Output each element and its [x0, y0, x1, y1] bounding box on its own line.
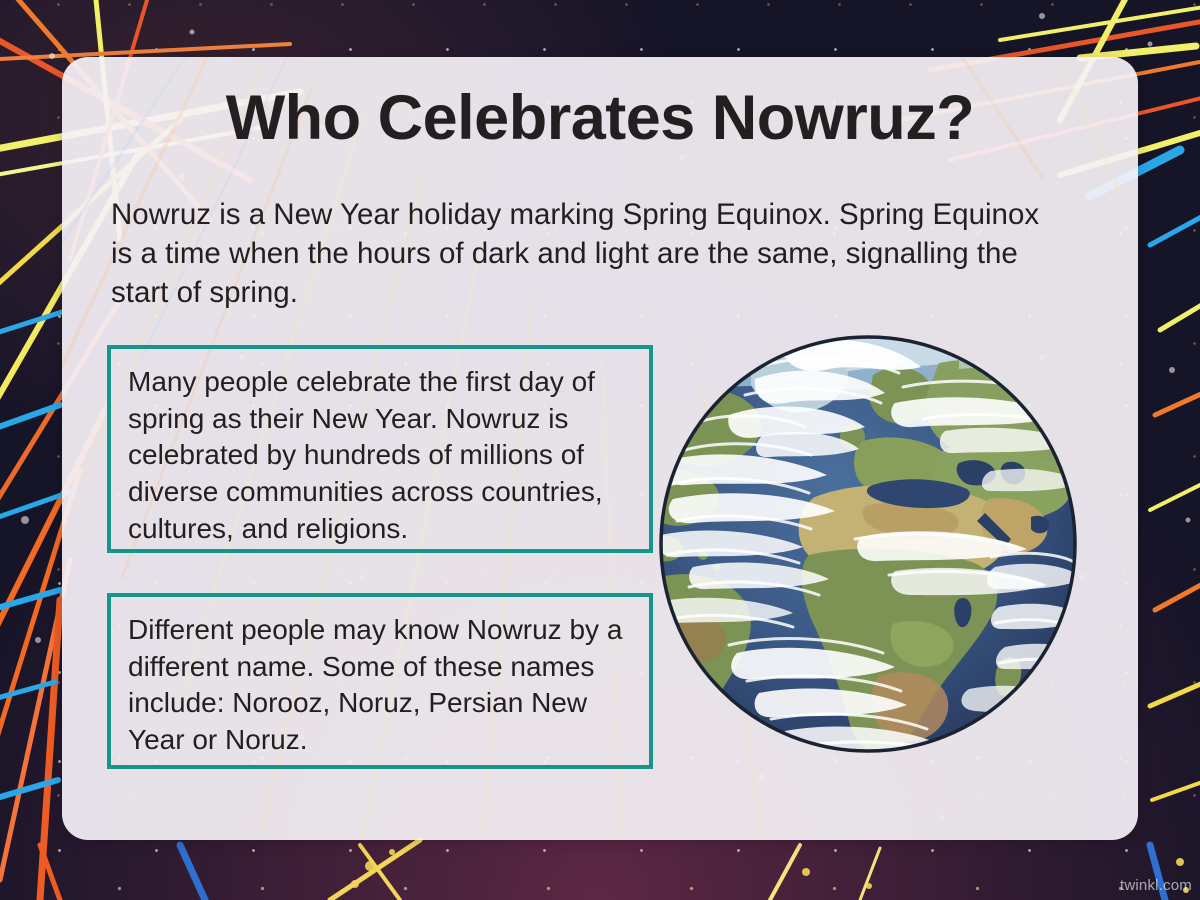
twinkl-watermark: twinkl.com: [1120, 877, 1192, 894]
page-title: Who Celebrates Nowruz?: [62, 85, 1138, 151]
fact-box-celebration: Many people celebrate the first day of s…: [107, 345, 653, 553]
content-card: Who Celebrates Nowruz? Nowruz is a New Y…: [62, 57, 1138, 840]
fact-box-celebration-text: Many people celebrate the first day of s…: [128, 366, 603, 544]
earth-globe-icon: [659, 323, 1077, 765]
fact-box-names: Different people may know Nowruz by a di…: [107, 593, 653, 769]
intro-paragraph: Nowruz is a New Year holiday marking Spr…: [111, 195, 1067, 313]
fact-box-names-text: Different people may know Nowruz by a di…: [128, 614, 622, 755]
slide-canvas: Who Celebrates Nowruz? Nowruz is a New Y…: [0, 0, 1200, 900]
